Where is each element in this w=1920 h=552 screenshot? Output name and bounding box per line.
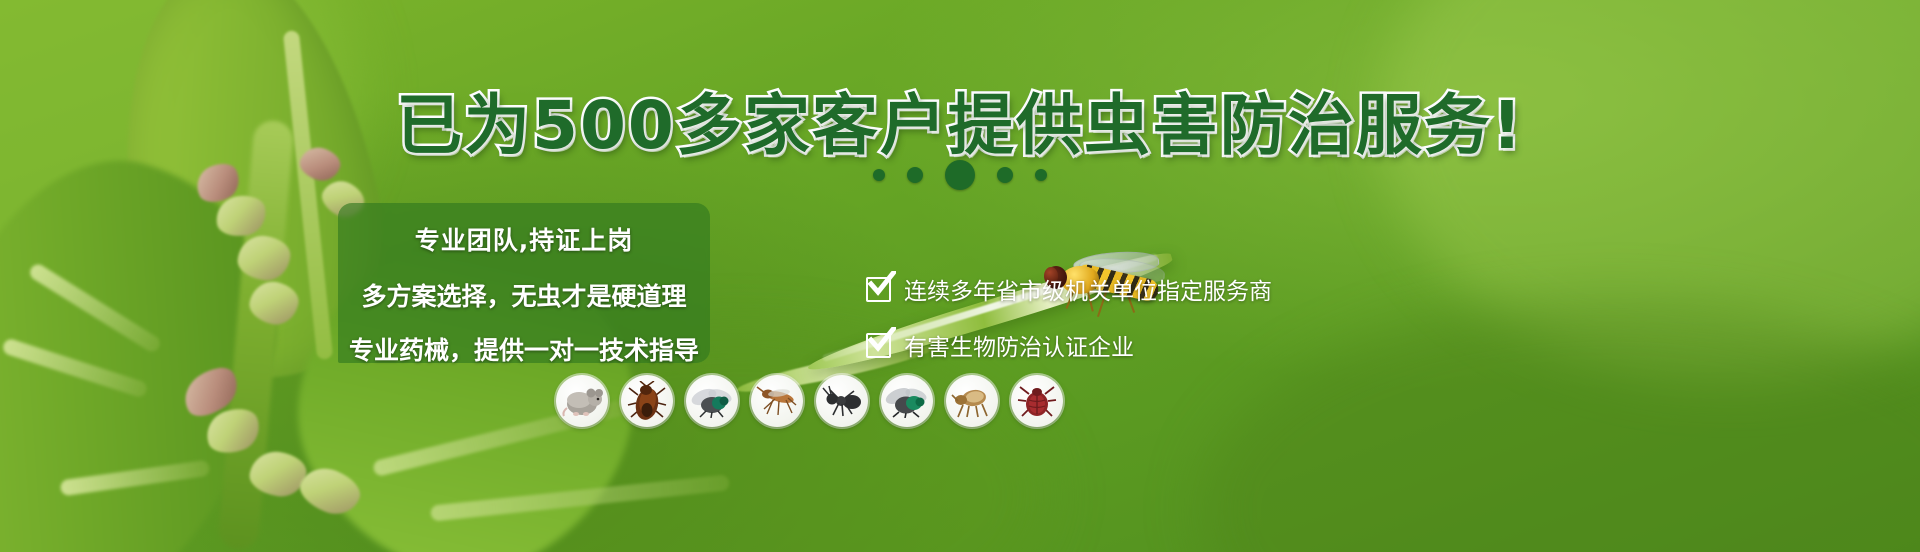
checkbox-checked-icon [866,277,891,302]
banner-headline: 已为500多家客户提供虫害防治服务! [0,72,1920,168]
decor-dot-small [873,169,885,181]
checklist-item: 连续多年省市级机关单位指定服务商 [866,272,1272,306]
decor-dot-small-2 [1035,169,1047,181]
checklist-item-label: 有害生物防治认证企业 [904,328,1134,362]
decor-dot-medium-2 [997,167,1013,183]
ant-icon[interactable] [816,375,868,427]
checklist-item-label: 连续多年省市级机关单位指定服务商 [904,272,1272,306]
decor-dot-large [945,160,975,190]
claim-line-2: 多方案选择，无虫才是硬道理 [338,277,710,313]
decor-dot-medium [907,167,923,183]
bedbug-icon[interactable] [1011,375,1063,427]
checklist-item: 有害生物防治认证企业 [866,328,1272,362]
cockroach-icon[interactable] [621,375,673,427]
bottlefly-icon[interactable] [881,375,933,427]
housefly-icon[interactable] [686,375,738,427]
claims-box: 专业团队,持证上岗 多方案选择，无虫才是硬道理 专业药械，提供一对一技术指导 [338,203,710,363]
bg-blob-3 [1200,300,1920,552]
claim-line-3: 专业药械，提供一对一技术指导 [338,331,710,367]
mosquito-icon[interactable] [751,375,803,427]
claim-line-1: 专业团队,持证上岗 [338,221,710,257]
mouse-icon[interactable] [556,375,608,427]
decor-dots [0,160,1920,190]
pest-control-banner: 已为500多家客户提供虫害防治服务! 专业团队,持证上岗 多方案选择，无虫才是硬… [0,0,1920,552]
checklist: 连续多年省市级机关单位指定服务商 有害生物防治认证企业 [866,272,1272,384]
flea-icon[interactable] [946,375,998,427]
checkbox-checked-icon [866,333,891,358]
pest-icon-row [556,375,1063,427]
